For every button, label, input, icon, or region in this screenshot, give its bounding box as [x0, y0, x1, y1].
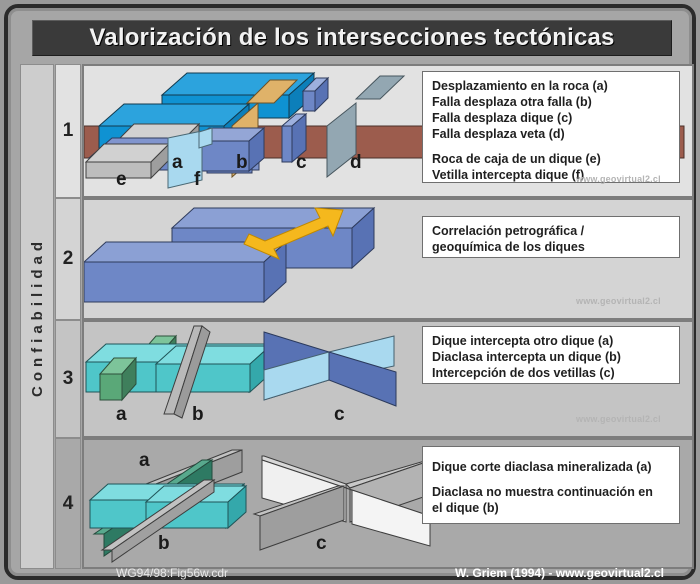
row-1-callout: Desplazamiento en la roca (a) Falla desp…: [422, 71, 680, 183]
row-number-2-label: 2: [63, 248, 74, 270]
row-3-watermark: www.geovirtual2.cl: [576, 414, 661, 424]
row-1-label-e: e: [116, 169, 127, 191]
row-panel-1: a b c d e f Desplazamiento en la roca (a…: [82, 64, 694, 198]
row-1-callout-line-1: Desplazamiento en la roca (a): [432, 78, 671, 94]
row-number-4-label: 4: [63, 493, 74, 515]
confiabilidad-axis-label: Confiabilidad: [29, 237, 46, 397]
row-4-label-c: c: [316, 533, 327, 555]
row-3-callout-line-1: Dique intercepta otro dique (a): [432, 333, 671, 349]
row-1-label-a: a: [172, 152, 183, 174]
row-4-label-a: a: [139, 450, 150, 472]
row-4-callout: Dique corte diaclasa mineralizada (a) Di…: [422, 446, 680, 524]
footer-file-id: WG94/98:Fig56w.cdr: [116, 566, 228, 580]
footer-credit: W. Griem (1994) - www.geovirtual2.cl: [455, 566, 664, 580]
row-1-watermark: www.geovirtual2.cl: [576, 174, 661, 184]
row-number-4: 4: [55, 438, 81, 569]
row-4-callout-line-3: el dique (b): [432, 500, 671, 516]
row-2-callout-line-2: geoquímica de los diques: [432, 239, 671, 255]
row-3-label-c: c: [334, 404, 345, 426]
row-1-label-b: b: [236, 152, 248, 174]
figure-title-bar: Valorización de los intersecciones tectó…: [32, 20, 672, 56]
confiabilidad-axis: Confiabilidad: [20, 64, 54, 569]
figure-frame: Valorización de los intersecciones tectó…: [4, 4, 696, 580]
row-2-callout-line-1: Correlación petrográfica /: [432, 223, 671, 239]
row-number-2: 2: [55, 198, 81, 320]
row-4-callout-line-2: Diaclasa no muestra continuación en: [432, 484, 671, 500]
row-number-1-label: 1: [63, 120, 74, 142]
row-4-callout-line-1: Dique corte diaclasa mineralizada (a): [432, 459, 671, 475]
row-number-3: 3: [55, 320, 81, 438]
row-1-callout-line-2: Falla desplaza otra falla (b): [432, 94, 671, 110]
row-number-1: 1: [55, 64, 81, 198]
row-1-callout-spacer: [432, 142, 671, 151]
row-4-label-b: b: [158, 533, 170, 555]
row-1-callout-line-4: Falla desplaza veta (d): [432, 126, 671, 142]
row-2-watermark: www.geovirtual2.cl: [576, 296, 661, 306]
row-panel-3: a b c Dique intercepta otro dique (a) Di…: [82, 320, 694, 438]
row-1-label-f: f: [194, 169, 200, 191]
row-panel-4: a b c Dique corte diaclasa mineralizada …: [82, 438, 694, 569]
row-1-callout-line-3: Falla desplaza dique (c): [432, 110, 671, 126]
row-3-callout: Dique intercepta otro dique (a) Diaclasa…: [422, 326, 680, 384]
row-3-callout-line-3: Intercepción de dos vetillas (c): [432, 365, 671, 381]
row-3-label-b: b: [192, 404, 204, 426]
row-4-callout-spacer: [432, 475, 671, 484]
page-title: Valorización de los intersecciones tectó…: [89, 24, 614, 52]
row-3-label-a: a: [116, 404, 127, 426]
row-panel-2: Correlación petrográfica / geoquímica de…: [82, 198, 694, 320]
row-number-3-label: 3: [63, 368, 74, 390]
row-1-label-d: d: [350, 152, 362, 174]
row-1-label-c: c: [296, 152, 307, 174]
row-1-callout-line-5: Roca de caja de un dique (e): [432, 151, 671, 167]
row-3-callout-line-2: Diaclasa intercepta un dique (b): [432, 349, 671, 365]
row-2-callout: Correlación petrográfica / geoquímica de…: [422, 216, 680, 258]
